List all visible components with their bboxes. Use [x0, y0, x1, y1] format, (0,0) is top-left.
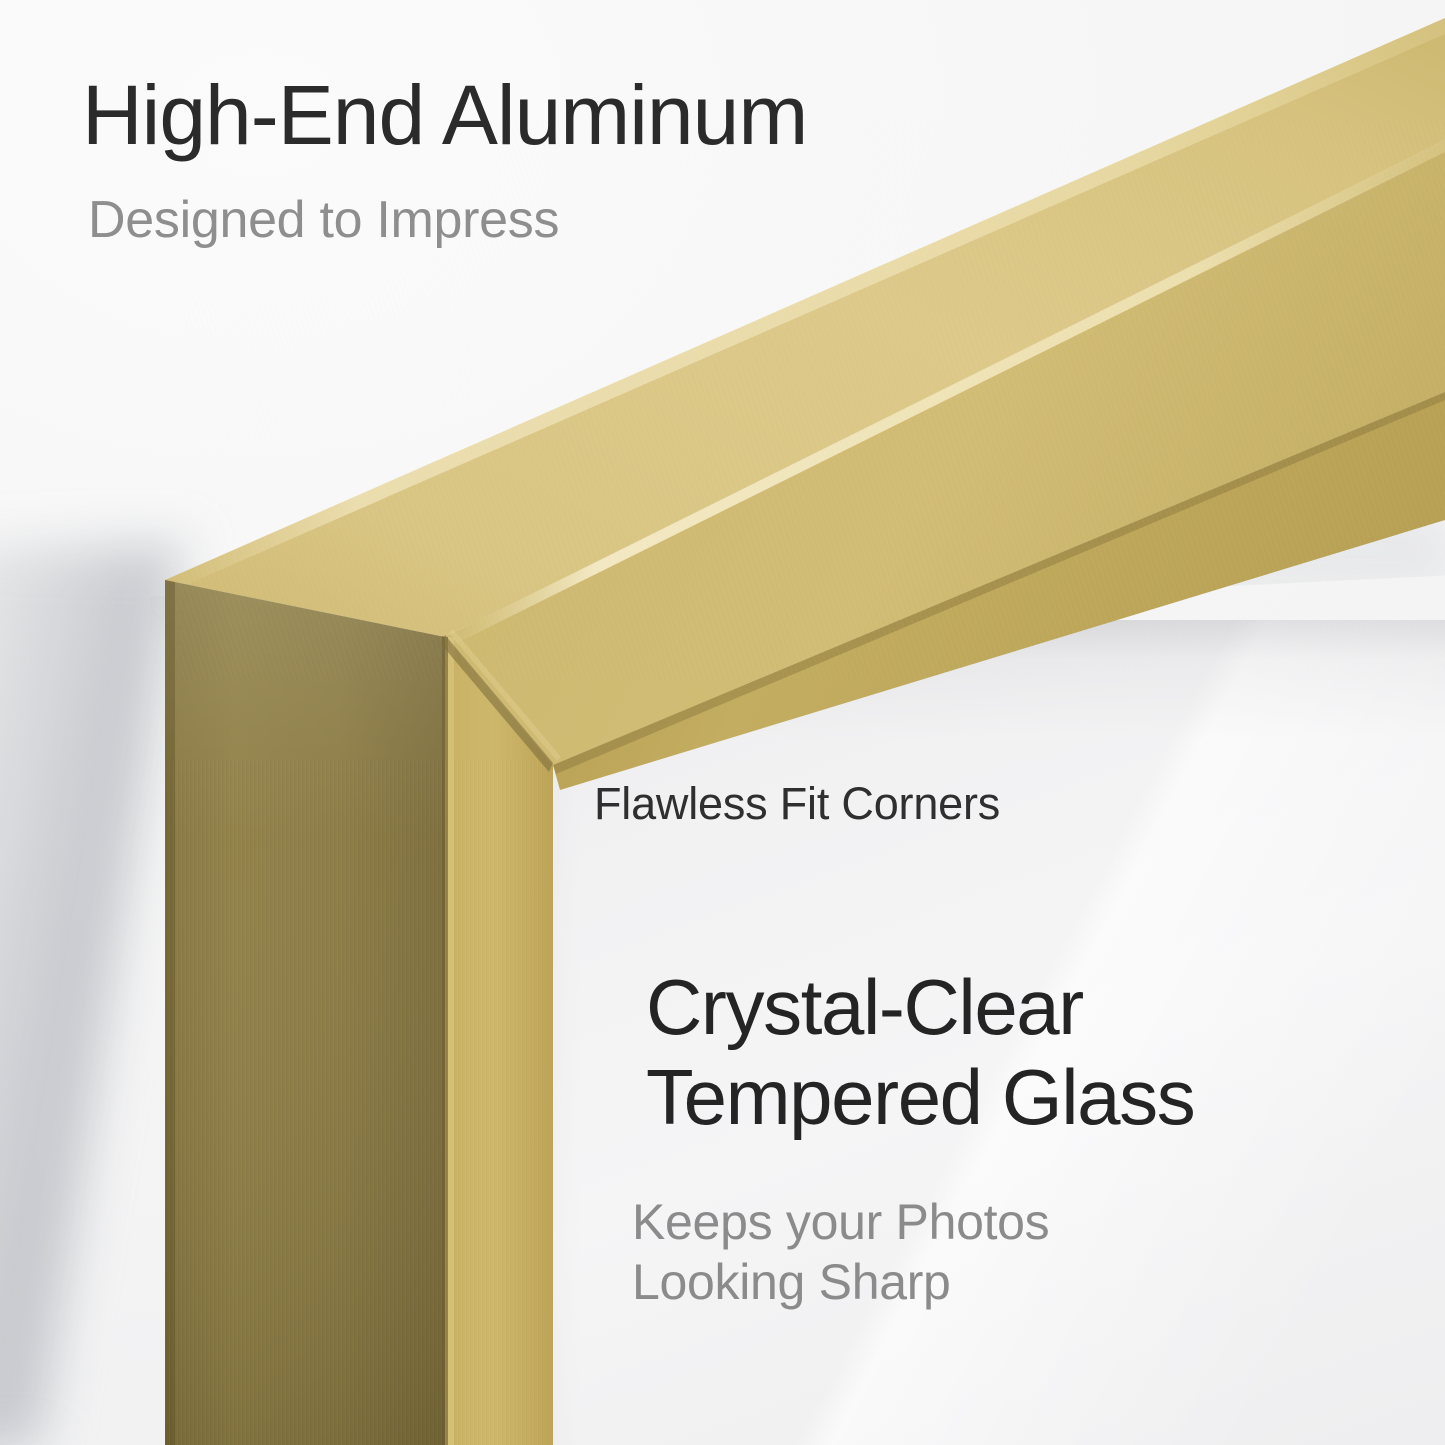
callout-glass-subtitle: Keeps your PhotosLooking Sharp: [632, 1192, 1049, 1312]
callout-glass-title-line1: Crystal-Clear: [646, 963, 1083, 1051]
page-subtitle: Designed to Impress: [88, 192, 559, 249]
page-title: High-End Aluminum: [82, 72, 807, 159]
brushed-texture-left-rail: [165, 760, 545, 1445]
callout-glass-subtitle-line2: Looking Sharp: [632, 1254, 951, 1310]
callout-glass-subtitle-line1: Keeps your Photos: [632, 1194, 1049, 1250]
callout-glass-title-line2: Tempered Glass: [646, 1053, 1194, 1141]
callout-flawless-fit-corners: Flawless Fit Corners: [594, 778, 1000, 830]
callout-glass-title: Crystal-ClearTempered Glass: [646, 962, 1194, 1143]
product-feature-image: High-End Aluminum Designed to Impress Fl…: [0, 0, 1445, 1445]
